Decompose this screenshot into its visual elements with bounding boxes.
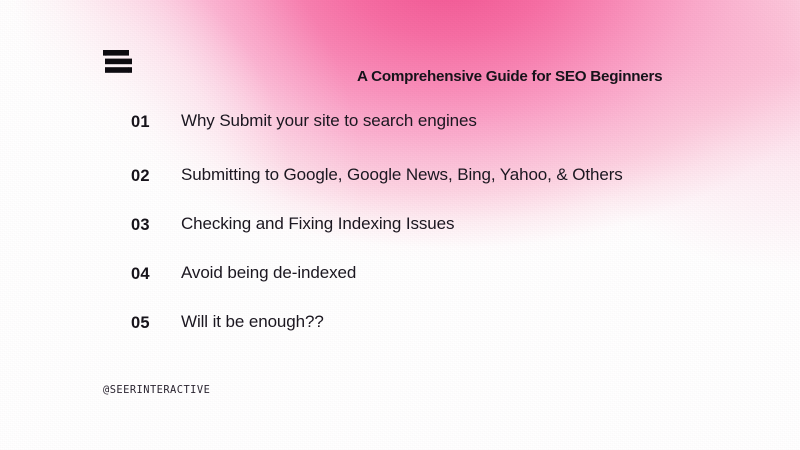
list-item-label: Avoid being de-indexed <box>181 262 356 284</box>
list-item[interactable]: 03 Checking and Fixing Indexing Issues <box>131 213 751 262</box>
list-item-number: 01 <box>131 110 181 133</box>
list-item[interactable]: 05 Will it be enough?? <box>131 311 751 360</box>
list-item-number: 02 <box>131 164 181 187</box>
list-item[interactable]: 04 Avoid being de-indexed <box>131 262 751 311</box>
slide-content: A Comprehensive Guide for SEO Beginners … <box>0 0 800 450</box>
s-logo-icon <box>103 49 134 75</box>
list-item-label: Why Submit your site to search engines <box>181 110 477 132</box>
list-item[interactable]: 02 Submitting to Google, Google News, Bi… <box>131 164 751 213</box>
list-item-number: 03 <box>131 213 181 236</box>
list-item-label: Submitting to Google, Google News, Bing,… <box>181 164 623 186</box>
list-item-label: Checking and Fixing Indexing Issues <box>181 213 454 235</box>
presentation-slide: A Comprehensive Guide for SEO Beginners … <box>0 0 800 450</box>
list-item-number: 04 <box>131 262 181 285</box>
agenda-list: 01 Why Submit your site to search engine… <box>131 110 751 360</box>
list-item-number: 05 <box>131 311 181 334</box>
seer-interactive-logo <box>103 49 134 75</box>
list-item[interactable]: 01 Why Submit your site to search engine… <box>131 110 751 164</box>
list-item-label: Will it be enough?? <box>181 311 324 333</box>
social-handle: @SEERINTERACTIVE <box>103 384 210 396</box>
page-title: A Comprehensive Guide for SEO Beginners <box>357 68 662 85</box>
